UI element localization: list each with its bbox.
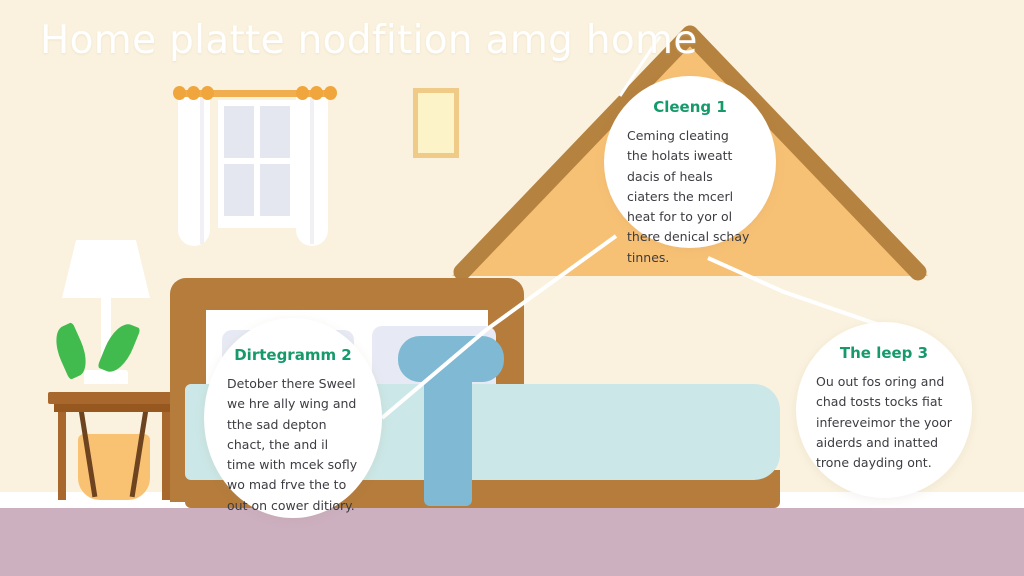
callout-title: Dirtegramm 2 — [234, 346, 352, 364]
callout-body: Detober there Sweel we hre ally wing and… — [227, 374, 359, 516]
curtain-fold — [200, 94, 204, 244]
window-pane — [224, 164, 254, 216]
curtain-finial — [173, 86, 186, 100]
callout-body: Ou out fos oring and chad tosts tocks fi… — [816, 372, 952, 473]
bed-blanket-fold — [398, 336, 504, 382]
page-title: Home platte nodfition amg home — [40, 18, 698, 63]
table-leg — [162, 404, 170, 500]
infographic-canvas: Home platte nodfition amg home Cleeng 1 … — [0, 0, 1024, 576]
room-floor — [0, 508, 1024, 576]
table-apron — [54, 404, 174, 412]
curtain-finial — [296, 86, 309, 100]
window-pane — [224, 106, 254, 158]
callout-card-1[interactable]: Cleeng 1 Ceming cleating the holats iwea… — [604, 76, 776, 248]
callout-card-2[interactable]: Dirtegramm 2 Detober there Sweel we hre … — [204, 318, 382, 518]
window-pane — [260, 106, 290, 158]
table-top — [48, 392, 180, 404]
window-pane — [260, 164, 290, 216]
callout-card-3[interactable]: The leep 3 Ou out fos oring and chad tos… — [796, 322, 972, 498]
callout-title: The leep 3 — [840, 344, 928, 362]
curtain-finial — [187, 86, 200, 100]
callout-title: Cleeng 1 — [653, 98, 727, 116]
window-glass — [218, 100, 296, 228]
lamp-base — [84, 370, 128, 384]
curtain-left — [178, 92, 210, 246]
curtain-fold — [310, 94, 314, 244]
lamp-shade — [62, 240, 150, 298]
curtain-finial — [310, 86, 323, 100]
callout-body: Ceming cleating the holats iweatt dacis … — [627, 126, 753, 268]
curtain-finial — [324, 86, 337, 100]
table-leg — [58, 404, 66, 500]
wall-picture-frame — [413, 88, 459, 158]
curtain-finial — [201, 86, 214, 100]
